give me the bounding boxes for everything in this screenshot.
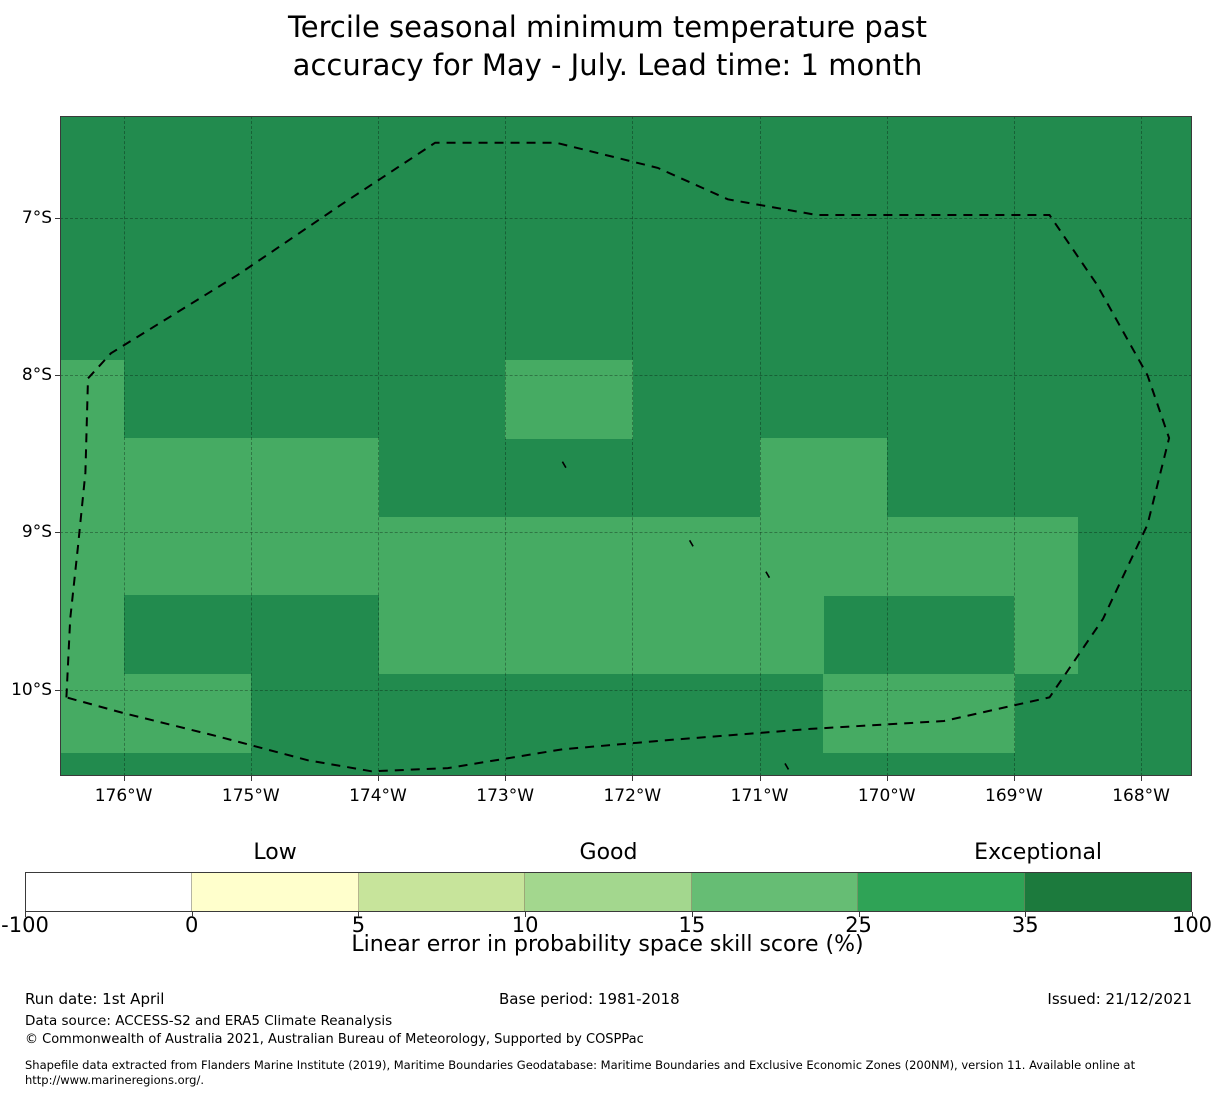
y-axis-tick-mark — [55, 690, 60, 691]
heatmap-cell — [696, 517, 760, 596]
colorbar-tick-mark — [859, 912, 860, 917]
heatmap-cell — [60, 360, 124, 439]
land-outline-marker — [562, 462, 566, 468]
heatmap-cell — [760, 517, 824, 596]
heatmap-cell — [314, 517, 378, 596]
footer-copyright: © Commonwealth of Australia 2021, Austra… — [25, 1032, 644, 1047]
heatmap-canvas — [60, 116, 1192, 776]
heatmap-cell — [569, 517, 633, 596]
footer-run-date: Run date: 1st April — [25, 990, 164, 1008]
colorbar-tick-mark — [692, 912, 693, 917]
heatmap-cell — [760, 595, 824, 674]
heatmap-cell — [378, 595, 442, 674]
heatmap-cell — [378, 517, 442, 596]
heatmap-cell — [187, 517, 251, 596]
colorbar-segment[interactable] — [192, 873, 358, 911]
y-axis-tick-label: 7°S — [22, 208, 52, 228]
x-axis-tick-mark — [632, 776, 633, 781]
colorbar-tick-mark — [192, 912, 193, 917]
heatmap-cell — [632, 595, 696, 674]
x-axis-tick-label: 174°W — [349, 786, 407, 806]
heatmap-cell — [505, 360, 569, 439]
heatmap-cell — [124, 674, 188, 753]
heatmap-cell — [569, 595, 633, 674]
heatmap-cell — [60, 438, 124, 517]
gridline-vertical — [1141, 116, 1142, 776]
heatmap-cell — [60, 595, 124, 674]
colorbar-tick-mark — [525, 912, 526, 917]
colorbar-segment[interactable] — [525, 873, 691, 911]
heatmap-cell — [60, 674, 124, 753]
colorbar-tick-mark — [358, 912, 359, 917]
page-title: Tercile seasonal minimum temperature pas… — [0, 8, 1215, 84]
heatmap-cell — [60, 517, 124, 596]
x-axis-tick-mark — [1014, 776, 1015, 781]
y-axis-tick-mark — [55, 218, 60, 219]
x-axis-tick-mark — [887, 776, 888, 781]
x-axis-tick-label: 171°W — [731, 786, 789, 806]
x-axis-tick-mark — [1141, 776, 1142, 781]
colorbar-category-label: Low — [253, 840, 296, 865]
footer-data-source: Data source: ACCESS-S2 and ERA5 Climate … — [25, 1013, 392, 1029]
colorbar-segment[interactable] — [1025, 873, 1191, 911]
x-axis-tick-mark — [760, 776, 761, 781]
heatmap-cell — [1014, 595, 1078, 674]
gridline-vertical — [505, 116, 506, 776]
heatmap-cell — [950, 517, 1014, 596]
colorbar-segment[interactable] — [858, 873, 1024, 911]
heatmap-cell — [887, 517, 951, 596]
heatmap-cell — [442, 517, 506, 596]
colorbar-segment[interactable] — [692, 873, 858, 911]
heatmap-cell — [505, 517, 569, 596]
x-axis-tick-label: 173°W — [476, 786, 534, 806]
x-axis-tick-mark — [124, 776, 125, 781]
y-axis-tick-mark — [55, 375, 60, 376]
heatmap-cell — [569, 360, 633, 439]
footer-issued-date: Issued: 21/12/2021 — [1047, 990, 1192, 1008]
footer-shapefile-note: Shapefile data extracted from Flanders M… — [25, 1058, 1200, 1088]
heatmap-cell — [124, 595, 188, 674]
heatmap-cell — [251, 595, 315, 674]
colorbar-tick-mark — [1025, 912, 1026, 917]
heatmap-cell — [632, 517, 696, 596]
colorbar-gradient[interactable] — [25, 872, 1192, 912]
x-axis-tick-mark — [378, 776, 379, 781]
heatmap-cell — [251, 517, 315, 596]
heatmap-cell — [187, 438, 251, 517]
heatmap-cell — [314, 438, 378, 517]
colorbar-tick-mark — [1192, 912, 1193, 917]
x-axis-tick-mark — [505, 776, 506, 781]
heatmap-cell — [314, 595, 378, 674]
x-axis-tick-label: 176°W — [95, 786, 153, 806]
colorbar-tick-mark — [25, 912, 26, 917]
x-axis-tick-label: 168°W — [1112, 786, 1170, 806]
heatmap-cell — [823, 438, 887, 517]
x-axis-tick-label: 172°W — [603, 786, 661, 806]
land-outline-marker — [785, 763, 789, 769]
heatmap-cell — [124, 438, 188, 517]
page-title-line-1: Tercile seasonal minimum temperature pas… — [0, 8, 1215, 46]
colorbar-segment[interactable] — [359, 873, 525, 911]
x-axis-tick-label: 175°W — [222, 786, 280, 806]
x-axis-tick-mark — [251, 776, 252, 781]
x-axis-tick-label: 170°W — [858, 786, 916, 806]
y-axis-tick-mark — [55, 532, 60, 533]
colorbar-category-label: Good — [580, 840, 638, 865]
page-title-line-2: accuracy for May - July. Lead time: 1 mo… — [0, 46, 1215, 84]
colorbar-segment[interactable] — [26, 873, 192, 911]
gridline-horizontal — [60, 218, 1192, 219]
colorbar-category-label: Exceptional — [974, 840, 1102, 865]
heatmap-cell — [187, 674, 251, 753]
heatmap-cell — [823, 517, 887, 596]
footer-base-period: Base period: 1981-2018 — [499, 990, 680, 1008]
gridline-vertical — [632, 116, 633, 776]
heatmap-cell — [823, 674, 887, 753]
colorbar[interactable] — [25, 872, 1192, 912]
heatmap-cell — [251, 438, 315, 517]
colorbar-axis-title: Linear error in probability space skill … — [0, 932, 1215, 957]
heatmap-cell — [760, 438, 824, 517]
heatmap-cell — [950, 674, 1014, 753]
y-axis-tick-label: 10°S — [11, 680, 52, 700]
y-axis-tick-label: 9°S — [22, 522, 52, 542]
heatmap-cell — [187, 595, 251, 674]
heatmap-cell — [1014, 517, 1078, 596]
heatmap-cell — [887, 674, 951, 753]
x-axis-tick-label: 169°W — [985, 786, 1043, 806]
y-axis-tick-label: 8°S — [22, 365, 52, 385]
heatmap-cell — [124, 517, 188, 596]
heatmap-cell — [442, 595, 506, 674]
heatmap-cell — [505, 595, 569, 674]
heatmap-cell — [696, 595, 760, 674]
map-plot — [60, 116, 1192, 776]
